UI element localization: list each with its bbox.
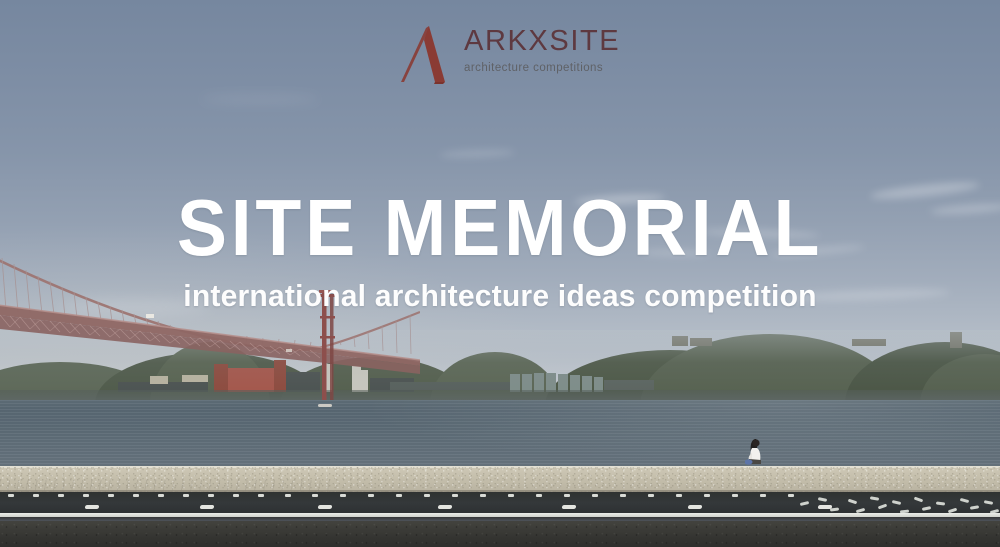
boat <box>318 404 332 407</box>
tower-crossbeam <box>320 316 335 319</box>
logo-mark-foot <box>434 82 445 84</box>
water-sheen <box>0 400 1000 470</box>
person-head <box>752 439 759 446</box>
deck-truss <box>0 314 420 374</box>
arkxsite-logo[interactable]: ARKXSITE architecture competitions <box>398 24 620 86</box>
person-arm <box>749 453 752 460</box>
competition-poster: ARKXSITE architecture competitions SITE … <box>0 0 1000 547</box>
page-title: SITE MEMORIAL <box>30 190 970 266</box>
logo-mark-thin-stroke <box>401 26 429 82</box>
stone-promenade <box>0 466 1000 492</box>
tower-crossbeam <box>320 336 335 339</box>
asphalt-texture <box>0 521 1000 547</box>
road-foreground <box>0 521 1000 547</box>
headline-block: SITE MEMORIAL international architecture… <box>0 190 1000 311</box>
vehicle-on-bridge <box>286 349 292 352</box>
cloud <box>200 95 320 103</box>
main-cable-right <box>326 312 420 346</box>
logo-tagline: architecture competitions <box>464 63 620 75</box>
logo-mark-solid-stroke <box>424 26 445 82</box>
arkxsite-triangle-logo-icon <box>398 24 460 86</box>
page-subtitle: international architecture ideas competi… <box>15 280 985 311</box>
logo-wordmark: ARKXSITE <box>464 27 620 56</box>
logo-text-block: ARKXSITE architecture competitions <box>464 24 620 75</box>
seated-person <box>745 437 771 467</box>
vehicle-on-bridge <box>146 314 154 318</box>
